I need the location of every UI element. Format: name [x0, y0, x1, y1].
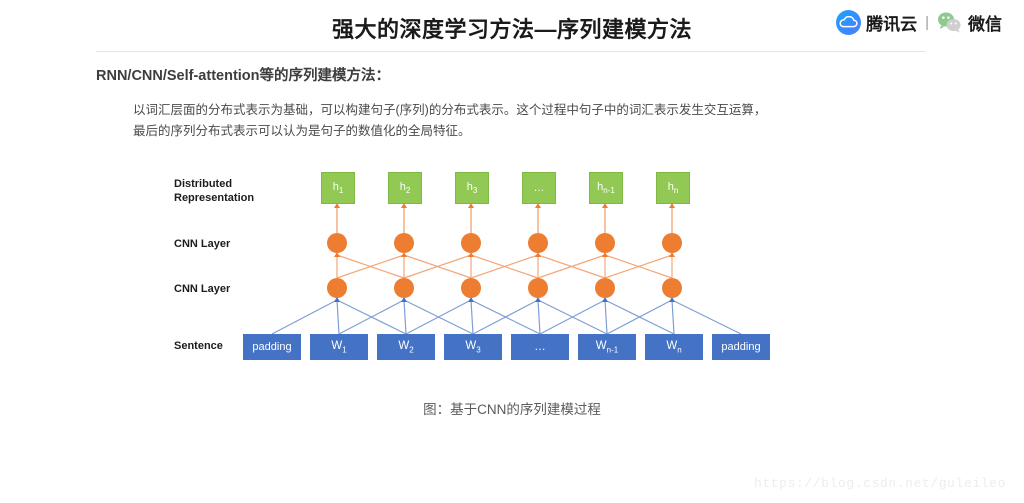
word-token-box: W1 — [310, 334, 368, 360]
token-label: Wn — [666, 340, 681, 354]
token-label: padding — [721, 341, 760, 353]
tencent-cloud-brand: 腾讯云 — [836, 10, 917, 35]
figure-caption: 图：基于CNN的序列建模过程 — [0, 398, 1024, 418]
row-label-cnn-layer-upper: CNN Layer — [174, 237, 230, 251]
word-token-box: W2 — [377, 334, 435, 360]
row-label-line-2: Representation — [174, 191, 254, 205]
word-token-box: W3 — [444, 334, 502, 360]
blue-connection — [339, 300, 404, 334]
blue-connection — [272, 300, 337, 334]
token-label: W2 — [398, 340, 413, 354]
hidden-unit-box: h1 — [321, 172, 355, 204]
brand-logos: 腾讯云 | 微信 — [836, 10, 1002, 35]
blue-connection — [471, 300, 473, 334]
hidden-unit-box: h2 — [388, 172, 422, 204]
cnn-lower-node — [394, 278, 414, 298]
hidden-unit-label: … — [534, 182, 545, 194]
hidden-unit-box: … — [522, 172, 556, 204]
row-label-sentence: Sentence — [174, 339, 223, 353]
blue-connection — [672, 300, 674, 334]
word-token-box: Wn-1 — [578, 334, 636, 360]
brand-separator: | — [925, 14, 929, 31]
cnn-lower-node — [595, 278, 615, 298]
wechat-label: 微信 — [968, 10, 1002, 35]
source-watermark: https://blog.csdn.net/guleileo — [754, 476, 1006, 491]
blue-connection — [404, 300, 406, 334]
cnn-sequence-diagram: Distributed Representation CNN Layer CNN… — [0, 150, 1024, 390]
blue-connection — [605, 300, 607, 334]
hidden-unit-label: hn — [668, 181, 679, 195]
hidden-unit-label: h2 — [400, 181, 411, 195]
word-token-box: Wn — [645, 334, 703, 360]
blue-connection — [540, 300, 605, 334]
row-label-line-1: Distributed — [174, 177, 254, 191]
word-token-box: … — [511, 334, 569, 360]
blue-connection — [337, 300, 339, 334]
body-paragraph: 以词汇层面的分布式表示为基础，可以构建句子(序列)的分布式表示。这个过程中句子中… — [133, 100, 893, 142]
hidden-unit-label: hn-1 — [597, 181, 615, 195]
hidden-unit-box: hn-1 — [589, 172, 623, 204]
hidden-unit-box: hn — [656, 172, 690, 204]
blue-connection — [538, 300, 540, 334]
row-label-cnn-layer-lower: CNN Layer — [174, 282, 230, 296]
padding-token-box: padding — [712, 334, 770, 360]
token-label: W3 — [465, 340, 480, 354]
cnn-upper-node — [662, 233, 682, 253]
wechat-logo-icon — [937, 11, 962, 34]
cnn-upper-node — [394, 233, 414, 253]
token-label: padding — [252, 341, 291, 353]
cnn-upper-node — [595, 233, 615, 253]
slide-page: 强大的深度学习方法—序列建模方法 腾讯云 | — [0, 0, 1024, 503]
tencent-cloud-logo-icon — [836, 10, 861, 35]
cnn-lower-node — [662, 278, 682, 298]
padding-token-box: padding — [243, 334, 301, 360]
hidden-unit-label: h1 — [333, 181, 344, 195]
row-label-distributed-representation: Distributed Representation — [174, 177, 254, 205]
cnn-lower-node — [461, 278, 481, 298]
cnn-upper-node — [327, 233, 347, 253]
token-label: … — [534, 341, 546, 353]
cnn-upper-node — [528, 233, 548, 253]
blue-connection — [473, 300, 538, 334]
cnn-lower-node — [327, 278, 347, 298]
blue-connection — [406, 300, 471, 334]
tencent-cloud-label: 腾讯云 — [866, 10, 917, 35]
token-label: W1 — [331, 340, 346, 354]
cnn-lower-node — [528, 278, 548, 298]
hidden-unit-label: h3 — [467, 181, 478, 195]
blue-connection — [672, 300, 741, 334]
token-label: Wn-1 — [596, 340, 618, 354]
slide-header: 强大的深度学习方法—序列建模方法 腾讯云 | — [0, 0, 1024, 52]
hidden-unit-box: h3 — [455, 172, 489, 204]
paragraph-line-2: 最后的序列分布式表示可以认为是句子的数值化的全局特征。 — [133, 121, 893, 142]
blue-connection — [607, 300, 672, 334]
cnn-upper-node — [461, 233, 481, 253]
header-divider — [96, 51, 926, 52]
paragraph-line-1: 以词汇层面的分布式表示为基础，可以构建句子(序列)的分布式表示。这个过程中句子中… — [133, 100, 893, 121]
section-heading: RNN/CNN/Self-attention等的序列建模方法： — [96, 64, 390, 85]
